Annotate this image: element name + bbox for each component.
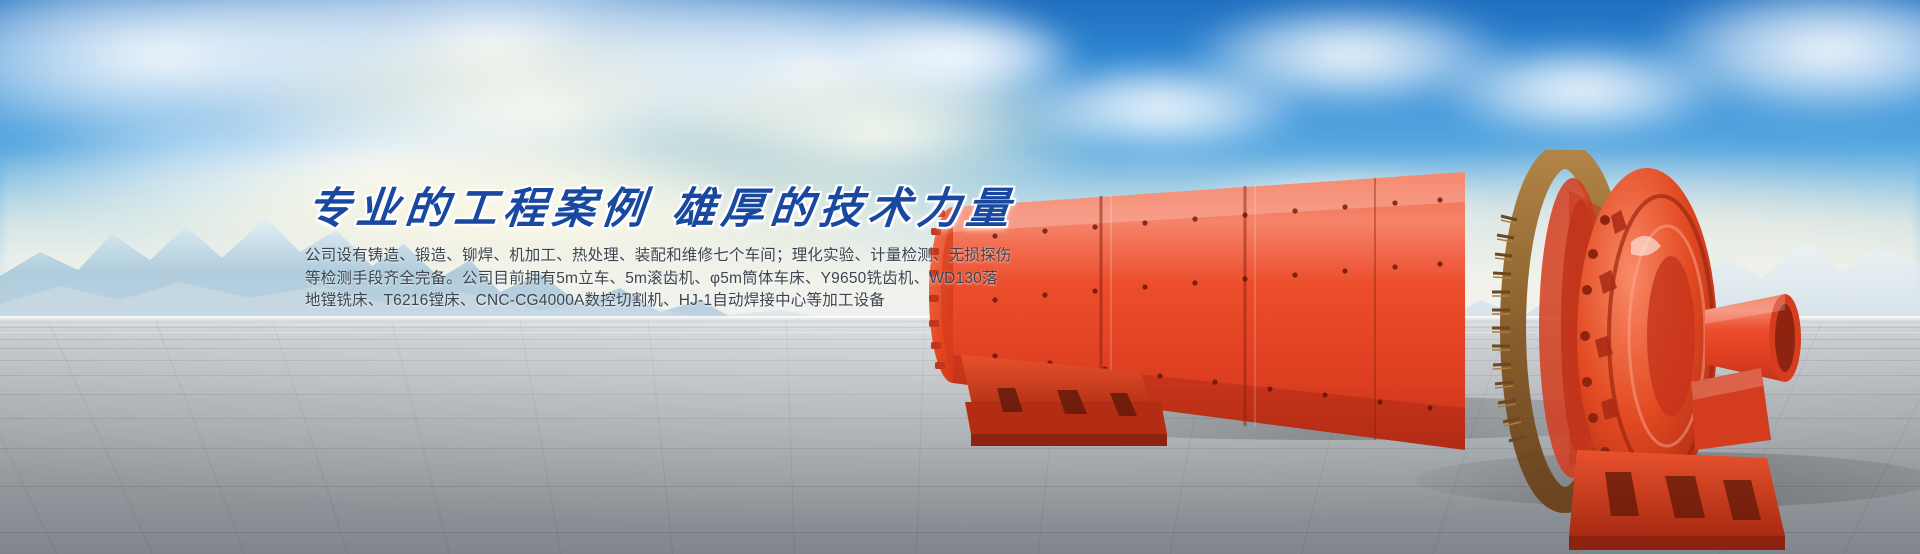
- hero-banner: 专业的工程案例雄厚的技术力量 公司设有铸造、锻造、铆焊、机加工、热处理、装配和维…: [0, 0, 1920, 554]
- page-title: 专业的工程案例雄厚的技术力量: [305, 188, 1190, 231]
- description-line-2: 等检测手段齐全完备。公司目前拥有5m立车、5m滚齿机、φ5m筒体车床、Y9650…: [305, 268, 1185, 291]
- mill-discharge-spout: [1705, 294, 1801, 382]
- description-line-1: 公司设有铸造、锻造、铆焊、机加工、热处理、装配和维修七个车间；理化实验、计量检测…: [305, 245, 1185, 268]
- description-line-3: 地镗铣床、T6216镗床、CNC-CG4000A数控切割机、HJ-1自动焊接中心…: [305, 290, 1185, 313]
- headline-part-1: 专业的工程案例: [305, 186, 653, 233]
- hero-description: 公司设有铸造、锻造、铆焊、机加工、热处理、装配和维修七个车间；理化实验、计量检测…: [305, 245, 1185, 313]
- hero-copy: 专业的工程案例雄厚的技术力量 公司设有铸造、锻造、铆焊、机加工、热处理、装配和维…: [305, 188, 1185, 313]
- headline-part-2: 雄厚的技术力量: [670, 186, 1018, 233]
